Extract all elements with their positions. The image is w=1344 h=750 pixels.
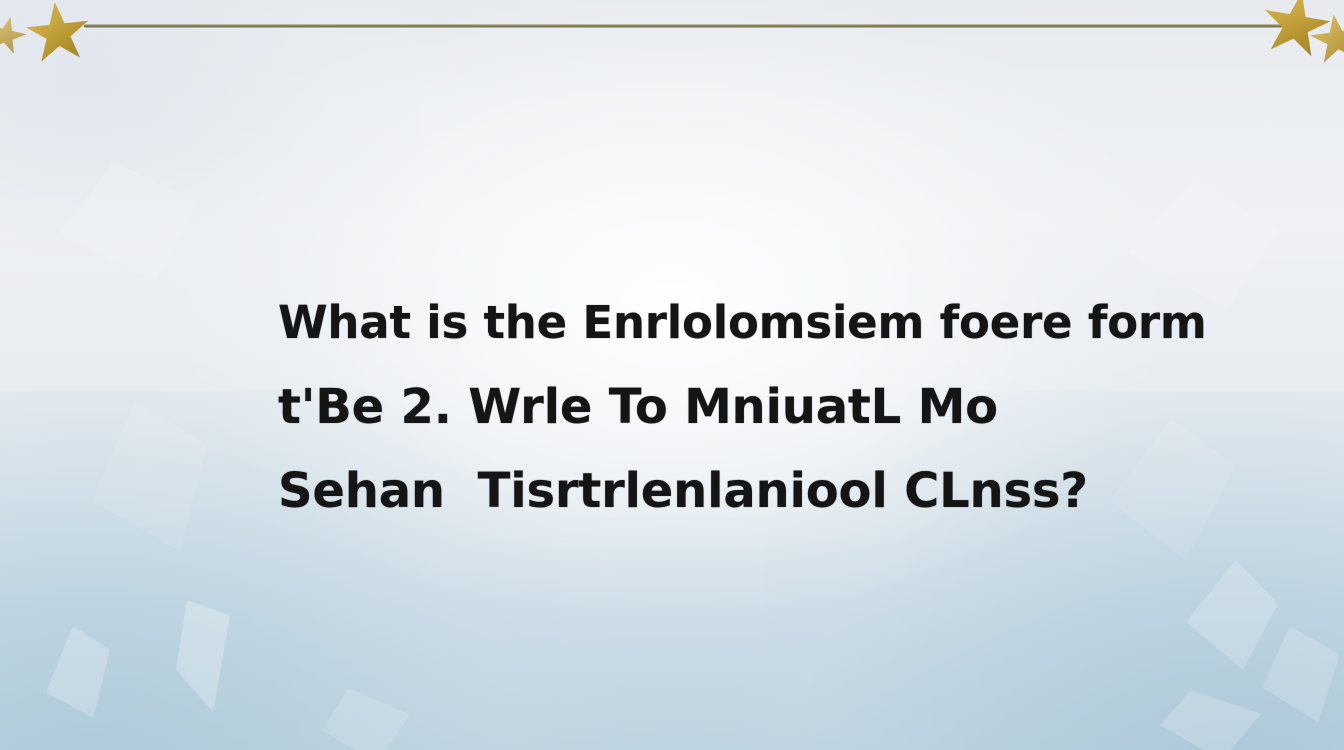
paper-shard — [176, 600, 236, 712]
background-wash-bottom-center — [300, 540, 1060, 750]
question-line-2: t'Be 2. Wrle To MniuatL Mo — [278, 365, 1118, 449]
star-icon — [1307, 10, 1344, 67]
question-line-3: Sehan  Tisrtrlenlaniool CLnss? — [278, 449, 1118, 533]
paper-shard — [92, 402, 212, 552]
paper-shard — [1262, 626, 1340, 722]
paper-shard — [1186, 560, 1278, 670]
slide-canvas: What is the Enrlolomsiem foere form t'Be… — [0, 0, 1344, 750]
paper-shard — [1128, 180, 1278, 310]
star-icon — [0, 12, 30, 59]
star-icon — [1257, 0, 1335, 63]
question-text-block: What is the Enrlolomsiem foere form t'Be… — [278, 281, 1118, 533]
paper-shard — [46, 626, 110, 718]
star-icon — [23, 0, 93, 67]
question-line-1: What is the Enrlolomsiem foere form — [278, 281, 1118, 365]
paper-shard — [1160, 690, 1270, 750]
paper-shard — [58, 162, 198, 280]
rule-line — [84, 24, 1284, 28]
top-decorative-rule — [0, 0, 1344, 70]
paper-shard — [322, 688, 410, 750]
paper-shard — [1110, 420, 1236, 560]
